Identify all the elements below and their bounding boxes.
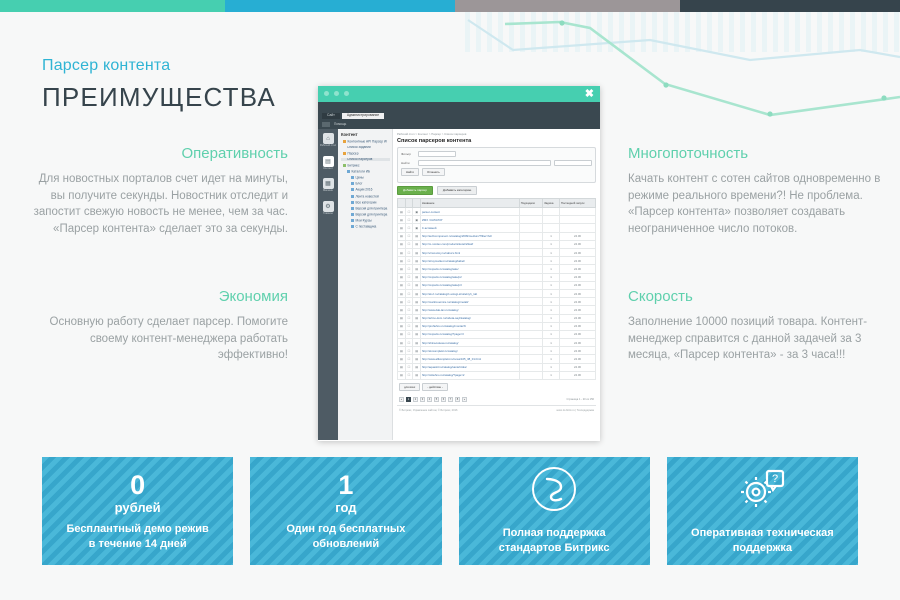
- pagination-total: Страница 1 - 20 из 156: [566, 398, 594, 401]
- table-row[interactable]: ▤☐▤http://www.allkomplekt.ru/news/105_38…: [398, 355, 596, 363]
- shop-icon: ▦: [323, 178, 334, 189]
- row-task: 1: [543, 298, 560, 306]
- filter-find-button[interactable]: Найти: [401, 168, 419, 176]
- table-column-header[interactable]: Задача: [543, 199, 560, 208]
- row-subtasks: [519, 363, 542, 371]
- svg-text:?: ?: [772, 473, 778, 485]
- tree-node-label: Мои Курсы: [356, 219, 372, 222]
- row-subtasks: [519, 257, 542, 265]
- row-type-icon: ▤: [413, 232, 421, 240]
- row-type-icon: ▣: [413, 216, 421, 224]
- row-name: С активной: [420, 224, 519, 232]
- tree-node-label: Каталоги ИБ: [352, 170, 371, 173]
- filter-field-label: Найти: [401, 161, 415, 165]
- filter-buttons-row: Найти Отменить: [401, 168, 592, 176]
- row-subtasks: [519, 216, 542, 224]
- tree-node[interactable]: Блог: [341, 182, 390, 186]
- filter-find-row: Найти: [401, 160, 592, 166]
- row-last-run: 24.06: [559, 273, 595, 281]
- tree-title: Контент: [341, 132, 390, 137]
- app-screenshot-window: ✖ Сайт Администрирование Помощь ⌂ Рабочи…: [318, 86, 600, 441]
- row-task: 1: [543, 232, 560, 240]
- row-subtasks: [519, 330, 542, 338]
- rail-label: Магазин: [318, 190, 338, 193]
- row-name: ИМХ / КАТАЛОГ: [420, 216, 519, 224]
- rail-label: Главное: [318, 213, 338, 216]
- benefit-unit: рублей: [115, 500, 161, 516]
- row-type-icon: ▣: [413, 208, 421, 216]
- row-last-run: [559, 216, 595, 224]
- benefit-caption: Бесплантный демо режив в течение 14 дней: [66, 522, 208, 552]
- bulk-select[interactable]: для всех: [399, 383, 420, 391]
- row-task: 1: [543, 371, 560, 379]
- row-checkbox: ☐: [405, 216, 413, 224]
- tree-node[interactable]: Контентные API Парсер W: [341, 140, 390, 144]
- submenu-help[interactable]: Помощь: [334, 122, 346, 126]
- benefit-caption: Один год бесплатных обновлений: [286, 522, 405, 552]
- row-subtasks: [519, 273, 542, 281]
- row-subtasks: [519, 306, 542, 314]
- tree-node-label: Блог: [356, 182, 363, 185]
- benefit-box-updates: 1 год Один год бесплатных обновлений: [250, 457, 441, 565]
- row-action-icon: ▤: [398, 273, 406, 281]
- rail-item-shop[interactable]: ▦ Магазин: [318, 178, 338, 193]
- row-name: http://mvparts.ru/catalog/sale/p3: [420, 281, 519, 289]
- decor-point: [559, 20, 564, 25]
- row-last-run: 24.06: [559, 371, 595, 379]
- row-last-run: [559, 224, 595, 232]
- row-type-icon: ▤: [413, 249, 421, 257]
- table-row[interactable]: ▤☐▤http://mktehno.ru/catalog/?page=2124.…: [398, 371, 596, 379]
- benefit-box-support: ? Оперативная техническая поддержка: [667, 457, 858, 565]
- tree-node[interactable]: Акции 2016: [341, 188, 390, 192]
- row-name: http://mktehno.ru/catalog/?page=2: [420, 371, 519, 379]
- app-body: ⌂ Рабочий стол ▤ Контент ▦ Магазин ⚙ Гла…: [318, 129, 600, 440]
- row-subtasks: [519, 265, 542, 273]
- pager-page[interactable]: 7: [448, 397, 453, 402]
- feature-heading: Многопоточность: [628, 145, 886, 162]
- row-checkbox: ☐: [405, 347, 413, 355]
- row-type-icon: ▤: [413, 347, 421, 355]
- window-title-bar: ✖: [318, 86, 600, 102]
- section-kicker: Парсер контента: [42, 57, 170, 75]
- settings-icon: ⚙: [323, 201, 334, 212]
- row-checkbox: ☐: [405, 363, 413, 371]
- tree-node[interactable]: Все категории: [341, 201, 390, 205]
- row-subtasks: [519, 355, 542, 363]
- table-column-header[interactable]: Последний запуск: [559, 199, 595, 208]
- row-type-icon: ▤: [413, 363, 421, 371]
- feature-heading: Оперативность: [30, 145, 288, 162]
- table-row[interactable]: ▤☐▤http://tehno-dom.ru/rabota-sayt/katal…: [398, 314, 596, 322]
- row-task: 1: [543, 339, 560, 347]
- tree-node-label: С поставщика: [356, 225, 377, 228]
- tree-node-label: Контентные API Парсер W: [348, 140, 387, 143]
- benefit-box-bitrix: Полная поддержка стандартов Битрикс: [459, 457, 650, 565]
- tree-node-label: Версия для принтера: [356, 207, 388, 210]
- row-type-icon: ▤: [413, 289, 421, 297]
- row-name: http://proftehno.ru/catalog/montazh/: [420, 322, 519, 330]
- row-last-run: 24.06: [559, 306, 595, 314]
- table-row[interactable]: ▤☐▤http://mvparts.ru/catalog/sale/124.06: [398, 265, 596, 273]
- row-subtasks: [519, 224, 542, 232]
- app-tree-panel: Контент Контентные API Парсер WСписок за…: [338, 129, 393, 440]
- row-action-icon: ▤: [398, 216, 406, 224]
- row-last-run: 24.06: [559, 289, 595, 297]
- tree-node-icon: [343, 140, 346, 143]
- row-action-icon: ▤: [398, 347, 406, 355]
- window-dot: [324, 91, 329, 96]
- tree-node[interactable]: Версия для принтера: [341, 213, 390, 217]
- tree-node-label: Список заданий: [347, 146, 371, 149]
- tree-node[interactable]: Список заданий: [341, 146, 390, 149]
- tree-node[interactable]: Версия для принтера: [341, 207, 390, 211]
- row-checkbox: ☐: [405, 339, 413, 347]
- row-task: 1: [543, 273, 560, 281]
- top-bar-segment-dark: [680, 0, 900, 12]
- rail-item-main[interactable]: ⚙ Главное: [318, 201, 338, 216]
- page-title: ПРЕИМУЩЕСТВА: [42, 82, 276, 113]
- table-column-header[interactable]: [413, 199, 421, 208]
- row-last-run: 24.06: [559, 347, 595, 355]
- table-row[interactable]: ▤☐▤http://proftehno.ru/catalog/montazh/1…: [398, 322, 596, 330]
- tree-node-icon: [351, 182, 354, 185]
- row-checkbox: ☐: [405, 265, 413, 273]
- row-checkbox: ☐: [405, 289, 413, 297]
- row-type-icon: ▣: [413, 224, 421, 232]
- content-title: Список парсеров контента: [397, 138, 596, 144]
- benefit-caption: Полная поддержка стандартов Битрикс: [499, 526, 610, 556]
- table-column-header[interactable]: [405, 199, 413, 208]
- feature-heading: Экономия: [30, 288, 288, 305]
- row-type-icon: ▤: [413, 273, 421, 281]
- row-task: 1: [543, 322, 560, 330]
- tree-node[interactable]: Цены: [341, 176, 390, 180]
- tree-node-label: Цены: [356, 176, 364, 179]
- table-row[interactable]: ▤☐▤http://mvparts.ru/catalog/sale/p2124.…: [398, 273, 596, 281]
- table-row[interactable]: ▤☐▤http://mvparts.ru/catalog/sale/p3124.…: [398, 281, 596, 289]
- feature-body: Для новостных порталов счет идет на мину…: [30, 171, 288, 237]
- row-subtasks: [519, 347, 542, 355]
- pager-page[interactable]: 6: [441, 397, 446, 402]
- filter-legend-row: Фильтр: [401, 151, 592, 157]
- table-row[interactable]: ▤☐▤http://mvparts.ru/catalog/?page=3124.…: [398, 330, 596, 338]
- filter-select[interactable]: [418, 151, 456, 157]
- tree-node[interactable]: Список парсеров: [341, 158, 390, 161]
- app-tab-strip: Сайт Администрирование: [318, 107, 600, 119]
- table-body: ▤☐▣parser-content▤☐▣ИМХ / КАТАЛОГ▤☐▣С ак…: [398, 208, 596, 380]
- add-category-button[interactable]: Добавить категорию: [437, 186, 477, 195]
- table-column-header[interactable]: [398, 199, 406, 208]
- row-subtasks: [519, 249, 542, 257]
- row-checkbox: ☐: [405, 314, 413, 322]
- benefit-unit: год: [335, 500, 356, 516]
- feature-body: Заполнение 10000 позиций товара. Контент…: [628, 314, 886, 364]
- feature-operativnost: Оперативность Для новостных порталов сче…: [30, 145, 288, 237]
- rail-label: Рабочий стол: [318, 145, 338, 148]
- row-name: http://www.allkomplekt.ru/news/105_38_01…: [420, 355, 519, 363]
- table-row[interactable]: ▤☐▤http://markit-service.ru/catalog/meta…: [398, 298, 596, 306]
- add-parser-button[interactable]: Добавить парсер: [397, 186, 433, 195]
- tree-node-label: Список парсеров: [347, 158, 372, 161]
- row-action-icon: ▤: [398, 306, 406, 314]
- filter-second-select[interactable]: [554, 160, 592, 166]
- tree-node[interactable]: Мои Курсы: [341, 219, 390, 223]
- row-action-icon: ▤: [398, 371, 406, 379]
- home-icon: ⌂: [323, 133, 334, 144]
- benefit-boxes: 0 рублей Бесплантный демо режив в течени…: [42, 457, 858, 565]
- row-action-icon: ▤: [398, 314, 406, 322]
- panel-toggle-icon[interactable]: [322, 122, 330, 127]
- row-name: http://vinst-stroy.ru/nabors.html: [420, 249, 519, 257]
- row-checkbox: ☐: [405, 322, 413, 330]
- row-name: http://sk-komplekt.ru/catalog/: [420, 347, 519, 355]
- row-checkbox: ☐: [405, 371, 413, 379]
- feature-heading: Скорость: [628, 288, 886, 305]
- row-action-icon: ▤: [398, 249, 406, 257]
- tree-node-icon: [351, 201, 354, 204]
- row-action-icon: ▤: [398, 330, 406, 338]
- row-type-icon: ▤: [413, 240, 421, 248]
- table-row[interactable]: ▤☐▤http://aquastil.ru/catalog/santehnika…: [398, 363, 596, 371]
- filter-panel: Фильтр Найти Найти Отменить: [397, 147, 596, 183]
- row-type-icon: ▤: [413, 281, 421, 289]
- gear-question-icon: ?: [737, 466, 787, 517]
- table-row[interactable]: ▤☐▤http://sk-komplekt.ru/catalog/124.06: [398, 347, 596, 355]
- row-type-icon: ▤: [413, 355, 421, 363]
- pagination: «12345678» Страница 1 - 20 из 156: [397, 394, 596, 405]
- table-row[interactable]: ▤☐▣parser-content: [398, 208, 596, 216]
- row-action-icon: ▤: [398, 322, 406, 330]
- benefit-number: 0: [130, 470, 145, 500]
- row-task: [543, 224, 560, 232]
- row-action-icon: ▤: [398, 298, 406, 306]
- table-row[interactable]: ▤☐▤http://www.dak-lan.ru/catalog/124.06: [398, 306, 596, 314]
- row-type-icon: ▤: [413, 265, 421, 273]
- app-footer: © Битрикс, Управление сайтом, © Битрикс,…: [397, 405, 596, 414]
- tree-node-icon: [347, 170, 350, 173]
- row-checkbox: ☐: [405, 330, 413, 338]
- tree-node-icon: [351, 219, 354, 222]
- row-subtasks: [519, 314, 542, 322]
- top-color-bar: [0, 0, 900, 12]
- table-row[interactable]: ▤☐▣С активной: [398, 224, 596, 232]
- row-subtasks: [519, 232, 542, 240]
- row-last-run: 24.06: [559, 355, 595, 363]
- tree-node[interactable]: Лента новостей: [341, 195, 390, 199]
- pager-page[interactable]: 1: [406, 397, 411, 402]
- top-bar-segment-gray: [455, 0, 680, 12]
- row-name: http://mvparts.ru/catalog/sale/: [420, 265, 519, 273]
- footer-left: © Битрикс, Управление сайтом, © Битрикс,…: [399, 409, 457, 412]
- row-last-run: 24.06: [559, 265, 595, 273]
- row-name: http://m-nordex.com/products/kotel/shkaf…: [420, 240, 519, 248]
- row-task: 1: [543, 240, 560, 248]
- tree-node-label: Все категории: [356, 201, 377, 204]
- row-subtasks: [519, 208, 542, 216]
- row-task: 1: [543, 306, 560, 314]
- row-task: 1: [543, 249, 560, 257]
- tree-node-label: Битрикс: [348, 164, 360, 167]
- table-header-row: НазваниеПодзадачиЗадачаПоследний запуск: [398, 199, 596, 208]
- row-last-run: [559, 208, 595, 216]
- tree-node-label: Парсер: [348, 152, 359, 155]
- row-checkbox: ☐: [405, 224, 413, 232]
- row-last-run: 24.06: [559, 322, 595, 330]
- row-type-icon: ▤: [413, 306, 421, 314]
- row-subtasks: [519, 371, 542, 379]
- pager-page[interactable]: «: [399, 397, 404, 402]
- table-row[interactable]: ▤☐▣ИМХ / КАТАЛОГ: [398, 216, 596, 224]
- rail-item-desktop[interactable]: ⌂ Рабочий стол: [318, 133, 338, 148]
- row-checkbox: ☐: [405, 281, 413, 289]
- close-icon[interactable]: ✖: [585, 87, 594, 101]
- row-task: [543, 216, 560, 224]
- pager-page[interactable]: 4: [427, 397, 432, 402]
- table-column-header[interactable]: Подзадачи: [519, 199, 542, 208]
- tree-node[interactable]: Битрикс: [341, 164, 390, 168]
- tree-node-icon: [351, 225, 354, 228]
- row-last-run: 24.06: [559, 339, 595, 347]
- table-row[interactable]: ▤☐▤http://m-nordex.com/products/kotel/sh…: [398, 240, 596, 248]
- row-last-run: 24.06: [559, 298, 595, 306]
- row-task: 1: [543, 281, 560, 289]
- row-name: http://stroymarket.ru/catalog/kabel/: [420, 257, 519, 265]
- row-name: http://mvparts.ru/catalog/?page=3: [420, 330, 519, 338]
- feature-mnogopotochnost: Многопоточность Качать контент с сотен с…: [628, 145, 886, 237]
- pager-page[interactable]: »: [462, 397, 467, 402]
- table-column-header[interactable]: Название: [420, 199, 519, 208]
- benefit-caption: Оперативная техническая поддержка: [691, 526, 834, 556]
- row-name: http://www.dak-lan.ru/catalog/: [420, 306, 519, 314]
- row-type-icon: ▤: [413, 371, 421, 379]
- tree-node-icon: [351, 188, 354, 191]
- filter-cancel-button[interactable]: Отменить: [422, 168, 445, 176]
- window-dot: [344, 91, 349, 96]
- tab-sait[interactable]: Сайт: [322, 113, 340, 119]
- tab-admin[interactable]: Администрирование: [342, 113, 384, 119]
- row-action-icon: ▤: [398, 208, 406, 216]
- row-action-icon: ▤: [398, 224, 406, 232]
- row-task: 1: [543, 257, 560, 265]
- table-row[interactable]: ▤☐▤http://vinst-stroy.ru/nabors.html124.…: [398, 249, 596, 257]
- row-last-run: 24.06: [559, 232, 595, 240]
- decor-line-blue: [468, 20, 900, 60]
- tree-node[interactable]: Каталоги ИБ: [341, 170, 390, 174]
- row-action-icon: ▤: [398, 289, 406, 297]
- tree-node-icon: [351, 207, 354, 210]
- feature-skorost: Скорость Заполнение 10000 позиций товара…: [628, 288, 886, 364]
- footer-right[interactable]: www.1c-bitrix.ru | Техподдержка: [556, 409, 594, 412]
- rail-label: Контент: [318, 168, 338, 171]
- row-name: http://techcomponent.ru/catalog/2009/med…: [420, 232, 519, 240]
- parser-list-table: НазваниеПодзадачиЗадачаПоследний запуск …: [397, 198, 596, 380]
- row-checkbox: ☐: [405, 240, 413, 248]
- rail-item-content[interactable]: ▤ Контент: [318, 156, 338, 171]
- pager-list: «12345678»: [399, 397, 467, 402]
- tree-node-icon: [343, 152, 346, 155]
- row-checkbox: ☐: [405, 257, 413, 265]
- filter-legend: Фильтр: [401, 152, 415, 156]
- table-row[interactable]: ▤☐▤http://techcomponent.ru/catalog/2009/…: [398, 232, 596, 240]
- row-last-run: 24.06: [559, 249, 595, 257]
- row-name: http://shina-kolesa.ru/catalog/: [420, 339, 519, 347]
- benefit-number: 1: [338, 470, 353, 500]
- row-name: http://sk-rt.ru/catalog/1-uslugi-stroite…: [420, 289, 519, 297]
- window-dot: [334, 91, 339, 96]
- row-subtasks: [519, 298, 542, 306]
- filter-input[interactable]: [418, 160, 551, 166]
- tree-node-icon: [351, 195, 354, 198]
- pager-page[interactable]: 5: [434, 397, 439, 402]
- decor-point: [767, 111, 772, 116]
- row-action-icon: ▤: [398, 265, 406, 273]
- tree-node-label: Версия для принтера: [356, 213, 388, 216]
- pager-page[interactable]: 8: [455, 397, 460, 402]
- pager-page[interactable]: 3: [420, 397, 425, 402]
- row-task: 1: [543, 355, 560, 363]
- benefit-box-price: 0 рублей Бесплантный демо режив в течени…: [42, 457, 233, 565]
- row-task: 1: [543, 289, 560, 297]
- feature-body: Качать контент с сотен сайтов одновремен…: [628, 171, 886, 237]
- row-last-run: 24.06: [559, 314, 595, 322]
- app-main-content: Рабочий стол > Контент > Парсер > Список…: [393, 129, 600, 440]
- tree-node[interactable]: С поставщика: [341, 225, 390, 229]
- row-action-icon: ▤: [398, 281, 406, 289]
- decor-point: [663, 82, 668, 87]
- tree-list: Контентные API Парсер WСписок заданийПар…: [341, 140, 390, 229]
- decor-point: [881, 95, 886, 100]
- bitrix-logo-icon: [531, 466, 577, 517]
- row-task: 1: [543, 363, 560, 371]
- row-subtasks: [519, 281, 542, 289]
- row-name: http://aquastil.ru/catalog/santehnika/: [420, 363, 519, 371]
- content-icon: ▤: [323, 156, 334, 167]
- bulk-action[interactable]: - действие -: [422, 383, 447, 391]
- row-task: 1: [543, 330, 560, 338]
- app-submenu-bar: Помощь: [318, 119, 600, 129]
- row-type-icon: ▤: [413, 257, 421, 265]
- row-subtasks: [519, 322, 542, 330]
- striped-pattern: [465, 12, 900, 52]
- row-type-icon: ▤: [413, 330, 421, 338]
- row-action-icon: ▤: [398, 339, 406, 347]
- pager-page[interactable]: 2: [413, 397, 418, 402]
- bulk-action-row: для всех - действие -: [397, 380, 596, 394]
- table-row[interactable]: ▤☐▤http://sk-rt.ru/catalog/1-uslugi-stro…: [398, 289, 596, 297]
- row-task: 1: [543, 314, 560, 322]
- row-task: [543, 208, 560, 216]
- table-row[interactable]: ▤☐▤http://stroymarket.ru/catalog/kabel/1…: [398, 257, 596, 265]
- row-name: http://markit-service.ru/catalog/metall/: [420, 298, 519, 306]
- tree-node[interactable]: Парсер: [341, 152, 390, 156]
- tree-node-icon: [351, 176, 354, 179]
- table-head: НазваниеПодзадачиЗадачаПоследний запуск: [398, 199, 596, 208]
- row-type-icon: ▤: [413, 314, 421, 322]
- tree-node-icon: [351, 213, 354, 216]
- row-checkbox: ☐: [405, 232, 413, 240]
- breadcrumb: Рабочий стол > Контент > Парсер > Список…: [397, 132, 596, 136]
- top-bar-segment-blue: [225, 0, 455, 12]
- feature-body: Основную работу сделает парсер. Помогите…: [30, 314, 288, 364]
- row-last-run: 24.06: [559, 240, 595, 248]
- row-name: http://mvparts.ru/catalog/sale/p2: [420, 273, 519, 281]
- table-row[interactable]: ▤☐▤http://shina-kolesa.ru/catalog/124.06: [398, 339, 596, 347]
- tree-node-icon: [343, 164, 346, 167]
- row-checkbox: ☐: [405, 273, 413, 281]
- row-checkbox: ☐: [405, 355, 413, 363]
- row-subtasks: [519, 289, 542, 297]
